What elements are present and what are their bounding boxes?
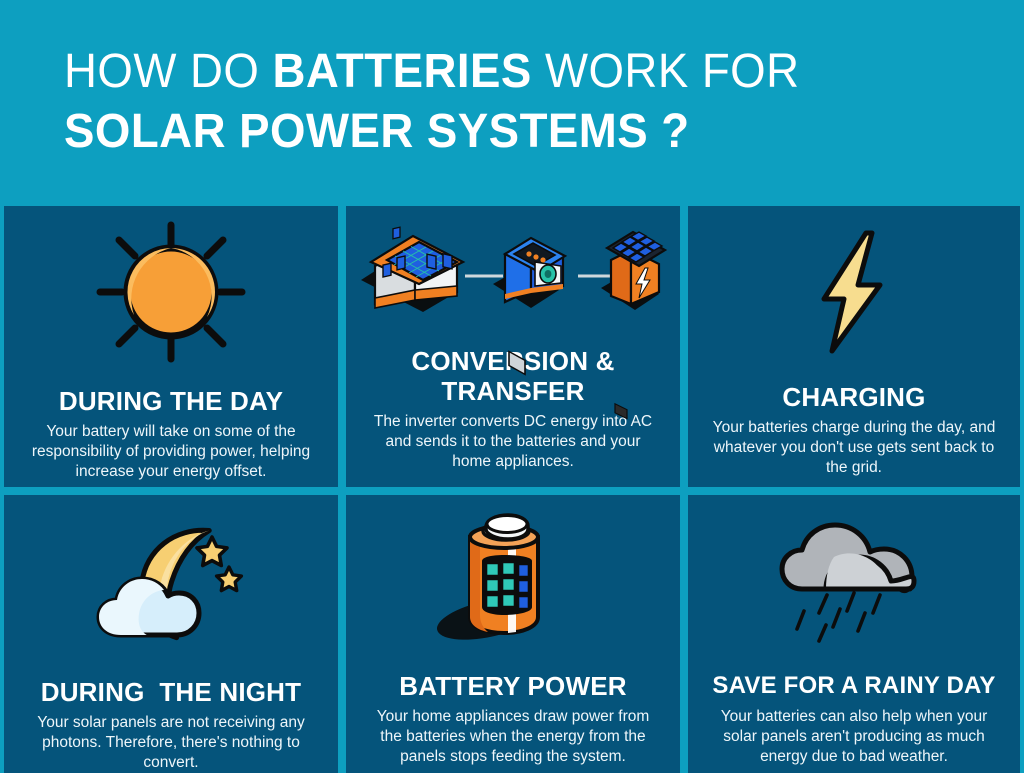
panel-body-text: Your solar panels are not receiving any … bbox=[4, 707, 338, 773]
rain-cloud-icon bbox=[688, 509, 1020, 645]
grid-edge-right bbox=[1020, 206, 1024, 773]
battery-cell-icon bbox=[346, 509, 680, 645]
grid-edge-left bbox=[0, 206, 4, 773]
panel-save-for-a-rainy-day: SAVE FOR A RAINY DAY Your batteries can … bbox=[688, 495, 1020, 773]
panel-heading: BATTERY POWER bbox=[346, 671, 680, 701]
panel-during-the-day: DURING THE DAY Your battery will take on… bbox=[4, 206, 338, 487]
moon-cloud-stars-icon bbox=[4, 511, 338, 651]
panel-body-text: The inverter converts DC energy into AC … bbox=[346, 406, 680, 472]
lightning-bolt-icon bbox=[688, 224, 1020, 360]
title-part-heavy: BATTERIES bbox=[273, 45, 532, 98]
page-title-line-1: HOW DO BATTERIES WORK FOR bbox=[64, 44, 976, 100]
panel-battery-power: BATTERY POWER Your home appliances draw … bbox=[346, 495, 680, 773]
title-part-lite-a: HOW DO bbox=[64, 45, 273, 98]
title-part-lite-b: WORK FOR bbox=[532, 45, 800, 98]
panel-conversion-transfer: CONVERSION & TRANSFER The inverter conve… bbox=[346, 206, 680, 487]
panel-during-the-night: DURING THE NIGHT Your solar panels are n… bbox=[4, 495, 338, 773]
infographic-page: HOW DO BATTERIES WORK FOR SOLAR POWER SY… bbox=[0, 0, 1024, 773]
panel-body-text: Your home appliances draw power from the… bbox=[346, 701, 680, 767]
panel-heading: DURING THE NIGHT bbox=[4, 677, 338, 707]
panel-body-text: Your battery will take on some of the re… bbox=[4, 416, 338, 482]
panel-grid: DURING THE DAY Your battery will take on… bbox=[0, 206, 1024, 773]
grid-divider-horizontal bbox=[0, 487, 1024, 495]
house-inverter-battery-icon bbox=[346, 214, 680, 332]
panel-heading: CHARGING bbox=[688, 382, 1020, 412]
panel-heading: DURING THE DAY bbox=[4, 386, 338, 416]
house-icon bbox=[361, 227, 463, 312]
panel-body-text: Your batteries can also help when your s… bbox=[688, 701, 1020, 767]
sun-icon bbox=[4, 218, 338, 366]
panel-charging: CHARGING Your batteries charge during th… bbox=[688, 206, 1020, 487]
header-banner: HOW DO BATTERIES WORK FOR SOLAR POWER SY… bbox=[0, 0, 1024, 206]
panel-heading: SAVE FOR A RAINY DAY bbox=[688, 671, 1020, 701]
panel-body-text: Your batteries charge during the day, an… bbox=[688, 412, 1020, 478]
page-title-line-2: SOLAR POWER SYSTEMS ? bbox=[64, 104, 976, 160]
